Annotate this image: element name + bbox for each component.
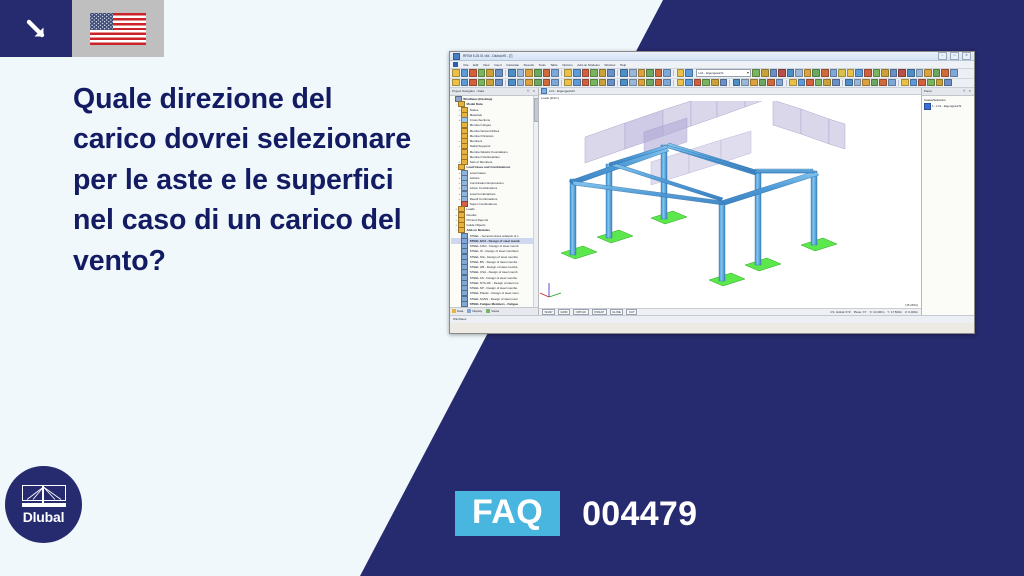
tree-item-label: STEEL EC3 - Design of steel memb xyxy=(470,239,520,243)
viewport-scale-label: [45.248m] xyxy=(906,303,918,307)
menu-item-help[interactable]: Help xyxy=(620,63,626,67)
status-coord-y: Y: 17.500m xyxy=(887,310,902,314)
faq-number: 004479 xyxy=(582,497,697,531)
toolbar-button[interactable] xyxy=(663,69,671,77)
toolbar-button[interactable] xyxy=(543,79,551,87)
toolbar-button[interactable] xyxy=(838,69,846,77)
toolbar-button[interactable] xyxy=(767,79,775,87)
tree-item-label: Super Combinations xyxy=(470,202,497,206)
tree-item-label: Load Cases and Combinations xyxy=(466,165,510,169)
toolbar-button[interactable] xyxy=(517,69,525,77)
toolbar-button[interactable] xyxy=(495,79,503,87)
tree-item-label: Actions xyxy=(470,176,480,180)
toolbar-button[interactable] xyxy=(534,79,542,87)
toolbar-button[interactable] xyxy=(638,69,646,77)
toolbar-button[interactable] xyxy=(629,79,637,87)
navigator-header: Project Navigator - Data ⇱ ✕ xyxy=(450,88,538,96)
toolbar-button[interactable] xyxy=(871,79,879,87)
toolbar-button[interactable] xyxy=(638,79,646,87)
corner-badges xyxy=(0,0,164,57)
tree-item-label: Results xyxy=(466,213,476,217)
maximize-button[interactable]: □ xyxy=(950,52,959,60)
toolbar-button[interactable] xyxy=(830,69,838,77)
toolbar-button[interactable] xyxy=(677,69,685,77)
nodal-support-plates xyxy=(561,211,837,286)
toolbar-button[interactable] xyxy=(933,69,941,77)
toolbar-button[interactable] xyxy=(508,69,516,77)
toolbar-button[interactable] xyxy=(607,69,615,77)
toolbar-button[interactable] xyxy=(452,69,460,77)
tab-display[interactable]: Display xyxy=(467,309,482,313)
slide-canvas: Quale direzione del carico dovrei selezi… xyxy=(0,0,1024,576)
tree-item-label: Load Combinations xyxy=(470,192,496,196)
tree-item-label: Load Cases xyxy=(470,171,486,175)
arrow-down-right-icon xyxy=(21,14,51,44)
tree-item-label: STEEL NTC-DF - Design of steel me xyxy=(470,281,519,285)
viewport-statusbar: SNAP GRID ORTHO OSNAP GLINE CUT CS: Glob… xyxy=(539,308,921,315)
toolbar-button[interactable] xyxy=(564,79,572,87)
toolbar-button[interactable] xyxy=(452,79,460,87)
toolbar-button[interactable] xyxy=(620,69,628,77)
logo-wordmark: Dlubal xyxy=(23,510,65,524)
toolbar-button[interactable] xyxy=(854,79,862,87)
app-body: Project Navigator - Data ⇱ ✕ -Windhaus (… xyxy=(450,88,974,315)
toolbar-button[interactable] xyxy=(815,79,823,87)
toolbar-separator xyxy=(505,80,506,86)
tree-item-label: Member Nonlinearities xyxy=(470,155,500,159)
toolbar-separator xyxy=(786,80,787,86)
results-panel[interactable]: Panel ⇱ ✕ Cases/Solutions 1 - LC1 - Eige… xyxy=(921,88,974,315)
toolbar-separator xyxy=(673,70,674,76)
toolbar-separator xyxy=(898,80,899,86)
tree-item-label: STEEL BS - Design of steel membe xyxy=(470,260,518,264)
status-gline[interactable]: GLINE xyxy=(610,309,624,315)
toolbar-button[interactable] xyxy=(798,79,806,87)
window-titlebar[interactable]: RFEM 5.25.01 x64 - Dlubal.rf5 - [7] – □ … xyxy=(450,52,974,61)
rfem-window[interactable]: RFEM 5.25.01 x64 - Dlubal.rf5 - [7] – □ … xyxy=(449,51,975,334)
toolbar-button[interactable] xyxy=(517,79,525,87)
case-color-swatch xyxy=(924,103,931,110)
panel-header: Panel ⇱ ✕ xyxy=(922,88,974,96)
tree-item-label: Member Hinges xyxy=(470,123,491,127)
tree-item-label: Member Elastic Foundations xyxy=(470,150,508,154)
toolbar-button[interactable] xyxy=(461,79,469,87)
panel-section-label: Cases/Solutions xyxy=(924,98,972,102)
toolbar-button[interactable] xyxy=(804,69,812,77)
tree-item-label: Member Eccentricities xyxy=(470,129,500,133)
toolbar-button[interactable] xyxy=(910,79,918,87)
toolbar-button[interactable] xyxy=(543,69,551,77)
toolbar-button[interactable] xyxy=(855,69,863,77)
display-icon xyxy=(467,309,471,313)
toolbar-button[interactable] xyxy=(864,69,872,77)
panel-body: Cases/Solutions 1 - LC1 - Eigengewicht xyxy=(922,96,974,315)
toolbar-button[interactable] xyxy=(582,69,590,77)
axis-triad-icon xyxy=(540,283,561,297)
status-plane: Plane: XY xyxy=(854,310,867,314)
toolbar-separator xyxy=(617,70,618,76)
arrow-badge xyxy=(0,0,72,57)
close-icon[interactable]: ⇱ ✕ xyxy=(963,89,972,93)
toolbar-button[interactable] xyxy=(525,69,533,77)
menu-item-table[interactable]: Table xyxy=(550,63,557,67)
tree-item-label: Printout Reports xyxy=(466,218,488,222)
3d-canvas[interactable]: [45.248m] xyxy=(539,101,921,315)
toolbar-button[interactable] xyxy=(551,69,559,77)
tree-item-label: Combination Expressions xyxy=(470,181,504,185)
toolbar-button[interactable] xyxy=(685,79,693,87)
toolbar-button[interactable] xyxy=(469,79,477,87)
menu-item-tools[interactable]: Tools xyxy=(538,63,545,67)
structural-frame-render xyxy=(539,101,921,309)
us-flag-icon xyxy=(90,13,146,45)
toolbar-button[interactable] xyxy=(573,79,581,87)
toolbar-secondary[interactable] xyxy=(450,79,974,88)
toolbar-button[interactable] xyxy=(599,79,607,87)
toolbar-button[interactable] xyxy=(936,79,944,87)
tree-item-label: STEEL GB - Design of steel membe xyxy=(470,265,518,269)
tree-item-label: STEEL Plastic - Design of steel mem xyxy=(470,291,519,295)
load-case-icon xyxy=(541,88,547,94)
toolbar-button[interactable] xyxy=(812,69,820,77)
faq-footer: FAQ 004479 xyxy=(455,491,697,536)
toolbar-button[interactable] xyxy=(924,69,932,77)
toolbar-button[interactable] xyxy=(888,79,896,87)
load-case-combo[interactable]: LC1 - Eigengewicht xyxy=(696,69,752,77)
toolbar-button[interactable] xyxy=(941,69,949,77)
toolbar-button[interactable] xyxy=(534,69,542,77)
tree-item-label: Nodes xyxy=(470,108,479,112)
tree-item-label: STEEL CSA - Design of steel memb xyxy=(470,270,518,274)
toolbar-button[interactable] xyxy=(847,69,855,77)
toolbar-button[interactable] xyxy=(629,69,637,77)
menu-item-edit[interactable]: Edit xyxy=(473,63,478,67)
tree-item-label: Guide Objects xyxy=(466,223,485,227)
toolbar-button[interactable] xyxy=(898,69,906,77)
toolbar-button[interactable] xyxy=(508,79,516,87)
tree-item-label: Loads xyxy=(466,207,474,211)
toolbar-separator xyxy=(505,70,506,76)
panel-case-label: 1 - LC1 - Eigengewicht xyxy=(932,104,961,108)
toolbar-button[interactable] xyxy=(720,79,728,87)
toolbar-button[interactable] xyxy=(776,79,784,87)
minimize-button[interactable]: – xyxy=(938,52,947,60)
toolbar-button[interactable] xyxy=(599,69,607,77)
toolbar-button[interactable] xyxy=(918,79,926,87)
tree-item-label: STEEL IS - Design of steel members xyxy=(470,249,519,253)
tree-item-label: Add-on Modules xyxy=(466,228,490,232)
toolbar-button[interactable] xyxy=(733,79,741,87)
toolbar-button[interactable] xyxy=(950,69,958,77)
model-viewport[interactable]: LC1 - Eigengewicht Loads [kN/m] xyxy=(539,88,921,315)
toolbar-button[interactable] xyxy=(823,79,831,87)
toolbar-button[interactable] xyxy=(620,79,628,87)
toolbar-button[interactable] xyxy=(685,69,693,77)
rfem-app-icon xyxy=(453,53,460,60)
toolbar-button[interactable] xyxy=(564,69,572,77)
data-icon xyxy=(452,309,456,313)
toolbar-button[interactable] xyxy=(927,79,935,87)
menu-item-view[interactable]: View xyxy=(483,63,490,67)
status-grid[interactable]: GRID xyxy=(558,309,570,315)
toolbar-button[interactable] xyxy=(590,79,598,87)
statusbar-left-text: Windhaus xyxy=(453,317,466,321)
tree-item-label: Model Data xyxy=(466,102,482,106)
window-title: RFEM 5.25.01 x64 - Dlubal.rf5 - [7] xyxy=(463,54,938,58)
toolbar-button[interactable] xyxy=(907,69,915,77)
status-snap[interactable]: SNAP xyxy=(542,309,555,315)
toolbar-button[interactable] xyxy=(677,79,685,87)
status-coord-mode: CS: Global XYZ xyxy=(830,310,850,314)
toolbar-button[interactable] xyxy=(655,69,663,77)
toolbar-button[interactable] xyxy=(879,79,887,87)
app-statusbar: Windhaus xyxy=(450,315,974,323)
viewport-tab-label: LC1 - Eigengewicht xyxy=(549,89,575,93)
tree-item-label: Materials xyxy=(470,113,482,117)
panel-case-item[interactable]: 1 - LC1 - Eigengewicht xyxy=(924,103,972,110)
toolbar-button[interactable] xyxy=(663,79,671,87)
viewport-tab[interactable]: LC1 - Eigengewicht xyxy=(539,88,921,96)
toolbar-button[interactable] xyxy=(862,79,870,87)
menu-item-results[interactable]: Results xyxy=(524,63,534,67)
tree-item-label: STEEL AISC - Design of steel memb xyxy=(470,244,519,248)
tree-item-label: STEEL Fatigue Members - Fatigue xyxy=(470,302,518,306)
status-ortho[interactable]: ORTHO xyxy=(573,309,588,315)
toolbar-button[interactable] xyxy=(761,69,769,77)
toolbar-button[interactable] xyxy=(461,69,469,77)
tree-item-label: Windhaus (Desktop) xyxy=(463,97,492,101)
toolbar-button[interactable] xyxy=(590,69,598,77)
flag-badge xyxy=(72,0,164,57)
toolbar-button[interactable] xyxy=(573,69,581,77)
toolbar-button[interactable] xyxy=(759,79,767,87)
toolbar-button[interactable] xyxy=(495,69,503,77)
toolbar-button[interactable] xyxy=(795,69,803,77)
toolbar-button[interactable] xyxy=(478,69,486,77)
tree-item-label: Action Combinations xyxy=(470,186,498,190)
toolbar-button[interactable] xyxy=(655,79,663,87)
toolbar-button[interactable] xyxy=(901,79,909,87)
menu-item-window[interactable]: Window xyxy=(604,63,615,67)
toolbar-button[interactable] xyxy=(750,79,758,87)
tree-item-label: Sets of Members xyxy=(470,160,493,164)
toolbar-button[interactable] xyxy=(551,79,559,87)
menu-item-file[interactable]: File xyxy=(464,63,469,67)
status-coord-x: X: 10.400m xyxy=(870,310,885,314)
project-navigator[interactable]: Project Navigator - Data ⇱ ✕ -Windhaus (… xyxy=(450,88,539,315)
navigator-tabs[interactable]: Data Display Views xyxy=(450,307,538,315)
toolbar-separator xyxy=(729,80,730,86)
toolbar-button[interactable] xyxy=(582,79,590,87)
toolbar-button[interactable] xyxy=(741,79,749,87)
toolbar-button[interactable] xyxy=(821,69,829,77)
toolbar-button[interactable] xyxy=(607,79,615,87)
tree-item-label: Members xyxy=(470,139,483,143)
toolbar-button[interactable] xyxy=(890,69,898,77)
toolbar-separator xyxy=(561,70,562,76)
faq-badge: FAQ xyxy=(455,491,560,536)
toolbar-separator xyxy=(842,80,843,86)
toolbar-separator xyxy=(673,80,674,86)
dlubal-logo: Dlubal xyxy=(5,466,82,543)
views-icon xyxy=(486,309,490,313)
tree-item-label: Cross-Sections xyxy=(470,118,490,122)
toolbar-button[interactable] xyxy=(787,69,795,77)
toolbar-primary[interactable]: LC1 - Eigengewicht xyxy=(450,69,974,79)
window-controls[interactable]: – □ ✕ xyxy=(938,52,971,60)
toolbar-button[interactable] xyxy=(646,69,654,77)
tree-scrollbar[interactable] xyxy=(533,96,538,307)
menu-item-options[interactable]: Options xyxy=(562,63,573,67)
toolbar-button[interactable] xyxy=(646,79,654,87)
tree-item-label: STEEL - General stress analysis of s xyxy=(470,234,519,238)
toolbar-button[interactable] xyxy=(752,69,760,77)
toolbar-button[interactable] xyxy=(881,69,889,77)
toolbar-button[interactable] xyxy=(789,79,797,87)
tree-item-label: Nodal Supports xyxy=(470,144,491,148)
menu-item-calculate[interactable]: Calculate xyxy=(506,63,519,67)
navigator-title: Project Navigator - Data xyxy=(452,89,484,93)
toolbar-button[interactable] xyxy=(486,69,494,77)
toolbar-button[interactable] xyxy=(694,79,702,87)
tree-item-label: STEEL AS - Design of steel membe xyxy=(470,276,517,280)
tree-item-label: Result Combinations xyxy=(470,197,498,201)
menu-item-insert[interactable]: Insert xyxy=(494,63,502,67)
menu-item-addon-modules[interactable]: Add-on Modules xyxy=(577,63,600,67)
dlubal-bridge-icon xyxy=(22,485,66,508)
menu-bar[interactable]: File Edit View Insert Calculate Results … xyxy=(450,61,974,69)
toolbar-button[interactable] xyxy=(873,69,881,77)
tree-item-label: Member Divisions xyxy=(470,134,494,138)
wind-load-surfaces-right xyxy=(773,101,845,149)
menu-app-icon xyxy=(453,62,458,67)
toolbar-button[interactable] xyxy=(525,79,533,87)
status-osnap[interactable]: OSNAP xyxy=(592,309,607,315)
toolbar-separator xyxy=(617,80,618,86)
toolbar-button[interactable] xyxy=(770,69,778,77)
toolbar-button[interactable] xyxy=(944,79,952,87)
tree-item-label: STEEL SANS - Design of steel mem xyxy=(470,297,518,301)
tab-data[interactable]: Data xyxy=(452,309,463,313)
toolbar-button[interactable] xyxy=(832,79,840,87)
status-coord-z: Z: 0.000m xyxy=(905,310,918,314)
navigator-tree[interactable]: -Windhaus (Desktop)-Model Data+Nodes+Mat… xyxy=(450,96,538,307)
tab-views[interactable]: Views xyxy=(486,309,499,313)
toolbar-button[interactable] xyxy=(711,79,719,87)
toolbar-button[interactable] xyxy=(478,79,486,87)
toolbar-button[interactable] xyxy=(916,69,924,77)
toolbar-button[interactable] xyxy=(702,79,710,87)
toolbar-button[interactable] xyxy=(778,69,786,77)
toolbar-separator xyxy=(561,80,562,86)
tree-item-label: STEEL SP - Design of steel membe xyxy=(470,286,518,290)
toolbar-button[interactable] xyxy=(845,79,853,87)
close-button[interactable]: ✕ xyxy=(962,52,971,60)
tree-item-label: STEEL SIA - Design of steel membe xyxy=(470,255,518,259)
status-cut[interactable]: CUT xyxy=(626,309,637,315)
toolbar-button[interactable] xyxy=(486,79,494,87)
panel-title: Panel xyxy=(924,89,932,93)
page-title: Quale direzione del carico dovrei selezi… xyxy=(73,79,423,281)
toolbar-button[interactable] xyxy=(806,79,814,87)
close-icon[interactable]: ⇱ ✕ xyxy=(527,89,536,93)
toolbar-button[interactable] xyxy=(469,69,477,77)
